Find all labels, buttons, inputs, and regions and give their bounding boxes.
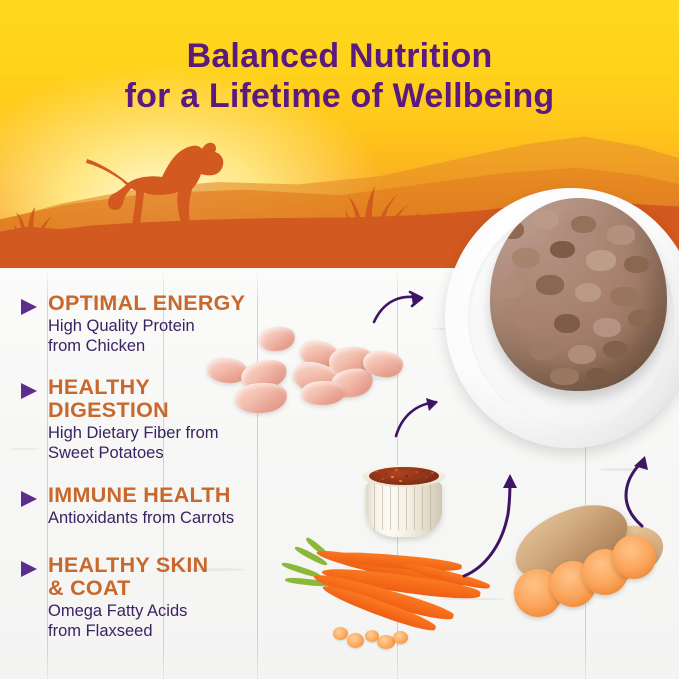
curved-arrow-flaxseed-to-bowl bbox=[392, 396, 454, 438]
benefit-item-optimal-energy: OPTIMAL ENERGY High Quality Protein from… bbox=[18, 292, 245, 356]
triangle-bullet-icon bbox=[18, 380, 40, 402]
triangle-bullet-icon bbox=[18, 558, 40, 580]
page-title-line2: for a Lifetime of Wellbeing bbox=[0, 76, 679, 116]
benefit-item-immune-health: IMMUNE HEALTH Antioxidants from Carrots bbox=[18, 484, 234, 529]
benefit-description: High Dietary Fiber from Sweet Potatoes bbox=[48, 424, 219, 463]
grass-silhouette-icon bbox=[345, 184, 435, 236]
benefit-description: High Quality Protein from Chicken bbox=[48, 317, 245, 356]
benefit-description: Antioxidants from Carrots bbox=[48, 509, 234, 529]
benefit-heading: HEALTHY DIGESTION bbox=[48, 376, 219, 422]
benefit-item-healthy-digestion: HEALTHY DIGESTION High Dietary Fiber fro… bbox=[18, 376, 219, 463]
benefit-heading: IMMUNE HEALTH bbox=[48, 484, 234, 507]
benefit-description: Omega Fatty Acids from Flaxseed bbox=[48, 602, 208, 641]
page-title: Balanced Nutrition for a Lifetime of Wel… bbox=[0, 36, 679, 116]
plate-of-pate-dog-food-image bbox=[445, 188, 679, 448]
curved-arrow-carrots-to-bowl bbox=[462, 468, 542, 578]
ramekin-body bbox=[366, 481, 442, 537]
triangle-bullet-icon bbox=[18, 296, 40, 318]
curved-arrow-sweet-potato-to-bowl bbox=[612, 452, 664, 528]
flaxseed-fill bbox=[369, 467, 439, 485]
benefit-heading: HEALTHY SKIN & COAT bbox=[48, 554, 208, 600]
triangle-bullet-icon bbox=[18, 488, 40, 510]
ad-banner: Balanced Nutrition for a Lifetime of Wel… bbox=[0, 0, 679, 679]
sweet-potato-slice bbox=[612, 535, 656, 579]
dog-silhouette-icon bbox=[86, 139, 236, 234]
grass-silhouette-icon bbox=[14, 202, 74, 242]
benefit-item-healthy-skin-coat: HEALTHY SKIN & COAT Omega Fatty Acids fr… bbox=[18, 554, 208, 641]
flaxseed-ramekin-image bbox=[362, 459, 446, 537]
curved-arrow-chicken-to-bowl bbox=[372, 288, 434, 326]
pate-mound bbox=[490, 198, 666, 390]
page-title-line1: Balanced Nutrition bbox=[0, 36, 679, 76]
benefit-heading: OPTIMAL ENERGY bbox=[48, 292, 245, 315]
